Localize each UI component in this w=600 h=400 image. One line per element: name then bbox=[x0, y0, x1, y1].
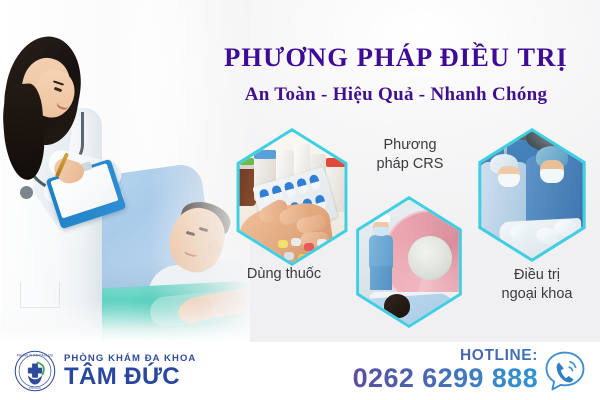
pill-white bbox=[317, 239, 327, 247]
method-hexagon-crs[interactable] bbox=[348, 196, 470, 328]
medicine-bottle-brown bbox=[236, 166, 256, 206]
crs-machine-bore bbox=[408, 236, 452, 280]
footer-bar: PHONG KHAM DA KHOA TAM DUC PHÒNG KHÁM ĐA… bbox=[0, 342, 600, 400]
loose-pills-group bbox=[276, 236, 352, 263]
capsule bbox=[270, 184, 283, 201]
pill-red bbox=[304, 243, 314, 251]
photo-bottom-fade bbox=[0, 300, 250, 342]
clinic-logo[interactable]: PHONG KHAM DA KHOA TAM DUC PHÒNG KHÁM ĐA… bbox=[14, 350, 196, 392]
bottle-cap-red bbox=[326, 158, 348, 167]
pill-yellow bbox=[330, 245, 340, 253]
svg-text:PHONG KHAM DA KHOA: PHONG KHAM DA KHOA bbox=[17, 354, 54, 358]
patient-head-on-table bbox=[384, 294, 410, 318]
hotline-label: HOTLINE: bbox=[353, 348, 538, 364]
clinic-name-line2: TÂM ĐỨC bbox=[64, 364, 196, 390]
hotline-block[interactable]: HOTLINE: 0262 6299 888 bbox=[353, 348, 586, 393]
surgeon-right-mask bbox=[540, 169, 564, 183]
nurse-uniform bbox=[369, 235, 393, 269]
method-label-crs-line2: pháp CRS bbox=[352, 155, 468, 174]
hotline-texts: HOTLINE: 0262 6299 888 bbox=[353, 348, 538, 393]
method-label-medication: Dùng thuốc bbox=[232, 265, 336, 284]
pill-yellow bbox=[278, 240, 288, 248]
capsule bbox=[258, 188, 271, 205]
capsule bbox=[295, 177, 308, 194]
page-subtitle: An Toàn - Hiệu Quả - Nhanh Chóng bbox=[196, 84, 596, 106]
method-hexagon-surgery[interactable] bbox=[470, 128, 594, 262]
method-label-crs-line1: Phương bbox=[352, 136, 468, 155]
clinic-name-block: PHÒNG KHÁM ĐA KHOA TÂM ĐỨC bbox=[64, 353, 196, 390]
nurse-figure bbox=[368, 214, 394, 292]
clinic-name-line1: PHÒNG KHÁM ĐA KHOA bbox=[64, 353, 196, 364]
pill-white bbox=[291, 238, 301, 246]
stethoscope-bell bbox=[20, 186, 33, 199]
nurse-cap bbox=[372, 214, 390, 222]
method-label-surgery-line2: ngoại khoa bbox=[482, 285, 592, 304]
method-label-surgery-line1: Điều trị bbox=[482, 266, 592, 285]
phone-in-speech-bubble-icon[interactable] bbox=[544, 349, 586, 393]
hotline-number[interactable]: 0262 6299 888 bbox=[353, 364, 538, 393]
page-title: PHƯƠNG PHÁP ĐIỀU TRỊ bbox=[196, 42, 596, 73]
method-photo-crs bbox=[352, 200, 467, 325]
bottle-cap-blue bbox=[254, 150, 276, 159]
nurse-face-mask bbox=[373, 227, 389, 236]
pill-white bbox=[312, 253, 322, 261]
svg-text:TAM DUC: TAM DUC bbox=[29, 386, 41, 390]
treatment-methods-banner: PHƯƠNG PHÁP ĐIỀU TRỊ An Toàn - Hiệu Quả … bbox=[0, 0, 600, 400]
method-label-surgery: Điều trị ngoại khoa bbox=[482, 266, 592, 304]
pill-red bbox=[326, 256, 336, 263]
capsule bbox=[308, 173, 321, 190]
method-label-crs: Phương pháp CRS bbox=[352, 136, 468, 174]
surgeon-left-mask bbox=[498, 174, 520, 187]
pill-orange bbox=[298, 254, 308, 262]
nurse-skirt bbox=[370, 266, 392, 290]
method-photo-surgery bbox=[474, 132, 591, 259]
clinic-seal-cross-and-hand-icon: PHONG KHAM DA KHOA TAM DUC bbox=[14, 350, 56, 392]
capsule bbox=[283, 180, 296, 197]
pill-white bbox=[284, 252, 294, 260]
